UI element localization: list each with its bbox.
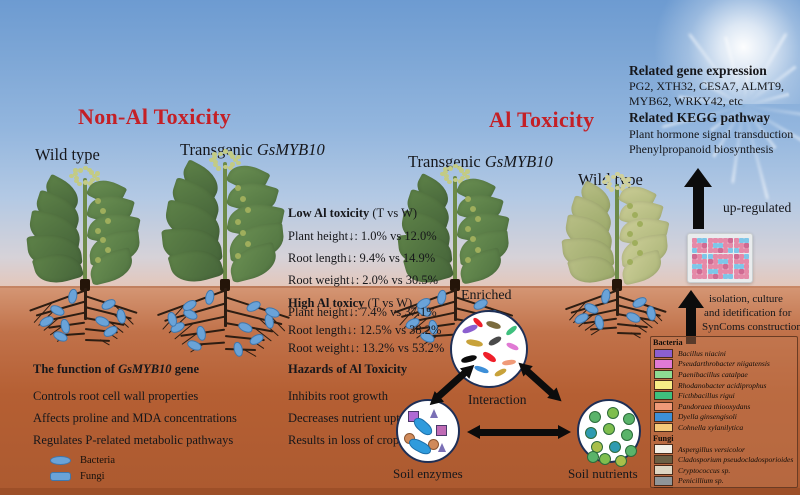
plate-well	[744, 274, 749, 279]
legend-row: Aspergillus versicolor	[654, 444, 797, 455]
up-regulated-label: up-regulated	[723, 200, 791, 216]
low-row-1: Root length↓: 9.4% vs 14.9%	[288, 249, 435, 268]
nutrient-dot	[607, 407, 619, 419]
flower	[89, 170, 94, 174]
legend-row: Ficthbacillus rigui	[654, 390, 797, 401]
stem	[453, 176, 457, 288]
legend-swatch	[654, 455, 673, 465]
legend-species-name: Penicillium sp.	[678, 476, 724, 485]
plate-well	[734, 248, 739, 253]
flower	[621, 177, 626, 181]
gene-name-right: GsMYB10	[485, 152, 553, 171]
nutrient-dot	[603, 423, 615, 435]
nutrient-dot	[587, 451, 599, 463]
microbe-rod	[487, 335, 502, 347]
legend-species-name: Ficthbacillus rigui	[678, 391, 735, 400]
low-heading-bold: Low Al toxicity	[288, 206, 369, 220]
fungi-symbol-icon	[50, 472, 71, 481]
legend-species-name: Dyella ginsengisoli	[678, 412, 737, 421]
legend-row: Pandoraea thiooxydans	[654, 401, 797, 412]
microbe-rod	[466, 338, 484, 347]
plate-well	[708, 274, 713, 279]
legend-row: Cohnella xylanilytica	[654, 422, 797, 433]
enzyme-square	[436, 425, 447, 436]
kegg-line1: Plant hormone signal transduction	[629, 127, 793, 142]
isolation-line-2: and idetification for	[704, 306, 791, 320]
plate-well	[744, 248, 749, 253]
nutrient-dot	[599, 453, 611, 465]
hazards-item-0: Inhibits root growth	[288, 387, 388, 406]
legend-species-name: Cohnella xylanilytica	[678, 423, 743, 432]
legend-row: Cladosporium pseudocladosporioides	[654, 454, 797, 465]
taproot	[616, 288, 619, 316]
seed-pod	[235, 253, 241, 259]
microbe-rod	[505, 324, 518, 336]
legend-row: Rhodanobacter acidiprophus	[654, 380, 797, 391]
flower	[212, 152, 217, 156]
legend-bacteria-heading: Bacteria	[653, 338, 797, 347]
high-row-2: Root weight↓: 13.2% vs 53.2%	[288, 339, 444, 358]
microbe-rod	[485, 320, 501, 330]
low-heading-suffix: (T vs W)	[369, 206, 417, 220]
figure-bottom-border	[0, 488, 800, 495]
taproot	[84, 288, 87, 320]
seed-pod	[475, 247, 481, 253]
enzyme-rod	[411, 415, 435, 438]
legend-species-name: Paenibacillus catalpae	[678, 370, 748, 379]
soil-nutrients-label: Soil nutrients	[568, 466, 638, 482]
plate-well	[728, 274, 733, 279]
nutrient-dot	[625, 445, 637, 457]
heading-non-al-toxicity: Non-Al Toxicity	[78, 104, 231, 130]
legend-row: Penicillium sp.	[654, 476, 797, 487]
flower	[236, 155, 241, 159]
figure-canvas: Non-Al Toxicity Al Toxicity Wild type Tr…	[0, 0, 800, 495]
legend-swatch	[654, 465, 673, 475]
legend-swatch	[654, 402, 673, 412]
function-item-1: Affects proline and MDA concentrations	[33, 409, 237, 428]
taproot	[224, 288, 227, 327]
key-bacteria: Bacteria	[50, 455, 115, 466]
seed-pod	[95, 228, 101, 234]
flower	[453, 178, 458, 182]
nutrient-dot	[623, 413, 635, 425]
bacteria-symbol-icon	[50, 456, 71, 465]
gene-expression-heading: Related gene expression	[629, 63, 767, 79]
heading-al-toxicity: Al Toxicity	[489, 107, 594, 133]
legend-species-name: Aspergillus versicolor	[678, 445, 745, 454]
gene-name-left: GsMYB10	[257, 140, 325, 159]
plate-well	[702, 274, 707, 279]
plate-well	[744, 254, 749, 259]
function-heading-post: gene	[172, 362, 199, 376]
legend-species-name: Bacillus niacini	[678, 349, 726, 358]
nutrient-dot	[621, 429, 633, 441]
legend-swatch	[654, 349, 673, 359]
seed-pod	[627, 259, 633, 265]
plate-well	[702, 248, 707, 253]
isolation-line-1: isolation, culture	[709, 292, 783, 306]
label-wild-type-left: Wild type	[35, 145, 100, 165]
key-fungi-label: Fungi	[80, 471, 105, 482]
low-row-0: Plant height↓: 1.0% vs 12.0%	[288, 227, 437, 246]
double-arrow-icon	[467, 425, 571, 439]
soil-enzymes-label: Soil enzymes	[393, 466, 463, 482]
legend-swatch	[654, 391, 673, 401]
kegg-line2: Phenylpropanoid biosynthesis	[629, 142, 773, 157]
legend-row: Paenibacillus catalpae	[654, 369, 797, 380]
function-heading-pre: The function of	[33, 362, 118, 376]
flower	[95, 171, 100, 175]
nutrient-dot	[609, 441, 621, 453]
key-bacteria-label: Bacteria	[80, 455, 115, 466]
flower	[459, 168, 464, 172]
flower	[605, 175, 610, 179]
legend-species-name: Rhodanobacter acidiprophus	[678, 381, 767, 390]
plate-well	[734, 254, 739, 259]
label-transgenic-right: Transgenic GsMYB10	[408, 152, 553, 172]
seed-pod	[235, 185, 241, 191]
low-al-toxicity-heading: Low Al toxicity (T vs W)	[288, 204, 417, 223]
plate-well	[708, 248, 713, 253]
microplate-icon	[687, 233, 753, 283]
legend-species-name: Cladosporium pseudocladosporioides	[678, 455, 793, 464]
legend-species-name: Cryptococcus sp.	[678, 466, 730, 475]
plate-well	[702, 254, 707, 259]
legend-species-name: Pandoraea thiooxydans	[678, 402, 750, 411]
legend-swatch	[654, 412, 673, 422]
flower	[73, 168, 78, 172]
root-branch	[85, 339, 110, 341]
legend-swatch	[654, 423, 673, 433]
flower	[83, 180, 88, 184]
enriched-label: Enriched	[461, 288, 512, 304]
flower	[223, 165, 228, 169]
interaction-label: Interaction	[468, 392, 526, 408]
legend-row: Dyella ginsengisoli	[654, 412, 797, 423]
microbe-rod	[482, 350, 498, 364]
legend-swatch	[654, 444, 673, 454]
plate-well	[728, 248, 733, 253]
function-item-0: Controls root cell wall properties	[33, 387, 198, 406]
stem	[83, 178, 87, 288]
seed-pod	[627, 203, 633, 209]
legend-row: Cryptococcus sp.	[654, 465, 797, 476]
hazards-heading: Hazards of Al Toxicity	[288, 360, 407, 379]
flower	[443, 167, 448, 171]
flower	[223, 149, 228, 153]
sun-ray	[743, 93, 789, 108]
taproot	[454, 288, 457, 321]
seed-pod	[637, 250, 643, 256]
legend-row: Bacillus niacini	[654, 348, 797, 359]
enzyme-triangle	[438, 443, 446, 452]
seed-pod	[240, 230, 246, 236]
transgenic-text: Transgenic	[180, 140, 257, 159]
seed-pod	[95, 198, 101, 204]
function-gene: GsMYB10	[118, 362, 171, 376]
flower	[465, 169, 470, 173]
gene-expression-line1: PG2, XTH32, CESA7, ALMT9,	[629, 79, 784, 94]
seed-pod	[627, 231, 633, 237]
low-row-2: Root weight↓: 2.0% vs 30.5%	[288, 271, 438, 290]
flower	[607, 182, 612, 186]
plate-well	[708, 254, 713, 259]
high-row-0: Plant height↓: 7.4% vs 37.1%	[288, 303, 437, 322]
legend-swatch	[654, 370, 673, 380]
seed-pod	[240, 196, 246, 202]
microbe-rod	[494, 367, 508, 378]
legend-row: Pseudarthrobacter niigatensis	[654, 359, 797, 370]
function-item-2: Regulates P-related metabolic pathways	[33, 431, 233, 450]
gene-expression-line2: MYB62, WRKY42, etc	[629, 94, 743, 109]
nutrient-dot	[589, 411, 601, 423]
high-row-1: Root length↓: 12.5% vs 38.2%	[288, 321, 441, 340]
flower	[626, 177, 631, 181]
microbe-rod	[502, 359, 517, 366]
key-fungi: Fungi	[50, 471, 105, 482]
plate-well	[734, 274, 739, 279]
legend-bacteria-list: Bacillus niaciniPseudarthrobacter niigat…	[651, 348, 797, 433]
legend-species-name: Pseudarthrobacter niigatensis	[678, 359, 770, 368]
isolation-line-3: SynComs construction	[702, 320, 800, 334]
species-legend: Bacteria Bacillus niaciniPseudarthrobact…	[650, 336, 798, 488]
plate-well	[728, 254, 733, 259]
seed-pod	[100, 208, 106, 214]
nutrient-dot	[585, 427, 597, 439]
flower	[230, 154, 235, 158]
flower	[216, 166, 221, 170]
seed-pod	[465, 257, 471, 263]
legend-fungi-heading: Fungi	[653, 434, 797, 443]
label-transgenic-left: Transgenic GsMYB10	[180, 140, 325, 160]
flower	[615, 186, 620, 190]
legend-swatch	[654, 380, 673, 390]
legend-swatch	[654, 359, 673, 369]
legend-swatch	[654, 476, 673, 486]
soil-enzymes-circle	[396, 399, 460, 463]
seed-pod	[105, 218, 111, 224]
soil-nutrients-circle	[577, 399, 641, 463]
kegg-pathway-heading: Related KEGG pathway	[629, 110, 770, 126]
function-heading: The function of GsMYB10 gene	[33, 360, 199, 379]
microbe-rod	[506, 341, 520, 351]
seed-pod	[235, 219, 241, 225]
